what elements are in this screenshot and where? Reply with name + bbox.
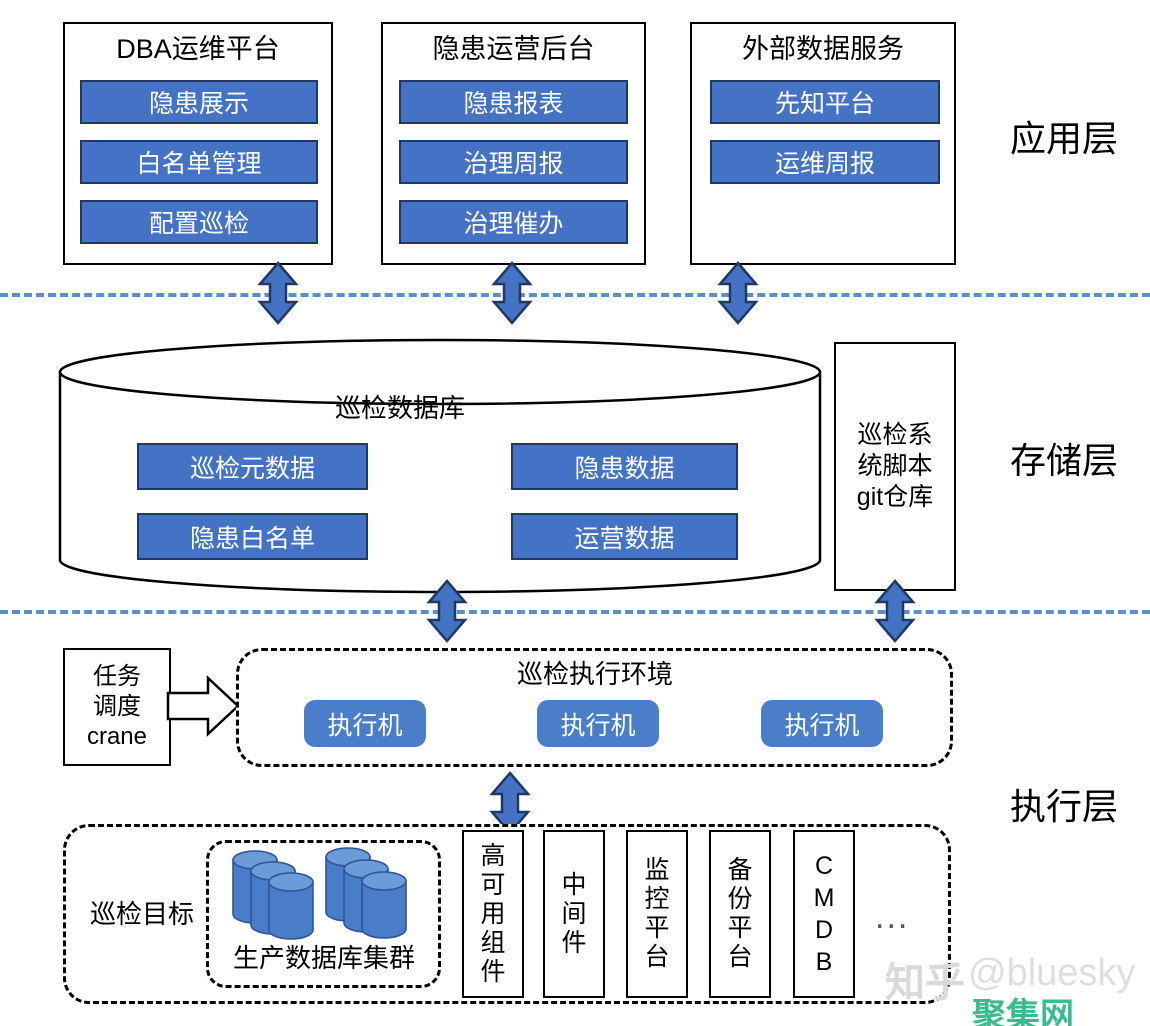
target-box-monitoring-platform[interactable]: 监控平台 xyxy=(626,830,688,998)
production-db-cluster-label: 生产数据库集群 xyxy=(216,942,432,974)
app-group-external-data: 外部数据服务 先知平台 运维周报 xyxy=(690,22,956,265)
target-box-backup-platform[interactable]: 备份平台 xyxy=(709,830,771,998)
arrow-app-external-to-storage xyxy=(718,262,758,324)
app-group-external-data-title: 外部数据服务 xyxy=(692,32,954,66)
database-cluster-icon xyxy=(225,840,425,940)
layer-label-execution: 执行层 xyxy=(1010,786,1150,828)
task-scheduler-label: 任务调度crane xyxy=(85,662,149,752)
architecture-diagram: DBA运维平台 隐患展示 白名单管理 配置巡检 隐患运营后台 隐患报表 治理周报… xyxy=(0,0,1150,1026)
inspection-targets-title: 巡检目标 xyxy=(82,898,202,930)
storage-item-inspection-metadata[interactable]: 巡检元数据 xyxy=(137,443,368,490)
target-box-monitoring-platform-label: 监控平台 xyxy=(645,856,670,972)
storage-item-operation-data[interactable]: 运营数据 xyxy=(511,513,738,560)
target-box-ha-components[interactable]: 高可用组件 xyxy=(462,830,524,998)
target-box-ha-components-label: 高可用组件 xyxy=(481,842,506,987)
app-item-governance-weekly[interactable]: 治理周报 xyxy=(399,140,628,184)
target-box-backup-platform-label: 备份平台 xyxy=(728,856,753,972)
app-item-whitelist-mgmt[interactable]: 白名单管理 xyxy=(80,140,318,184)
watermark-brand: 聚集网 xyxy=(972,988,1074,1026)
task-scheduler-box: 任务调度crane xyxy=(63,648,171,766)
app-group-hidden-ops: 隐患运营后台 隐患报表 治理周报 治理催办 xyxy=(381,22,646,265)
arrow-app-hidden-ops-to-storage xyxy=(492,262,532,324)
target-more-ellipsis: ... xyxy=(875,898,935,937)
storage-item-hidden-data[interactable]: 隐患数据 xyxy=(511,443,738,490)
target-box-middleware[interactable]: 中间件 xyxy=(543,830,605,998)
arrow-app-dba-to-storage xyxy=(258,262,298,324)
git-repo-box: 巡检系统脚本git仓库 xyxy=(834,342,956,591)
watermark-zhihu-logo: 知乎 xyxy=(885,950,965,1008)
git-repo-label: 巡检系统脚本git仓库 xyxy=(850,420,940,513)
separator-storage-execution xyxy=(0,610,1150,614)
executor-node-1[interactable]: 执行机 xyxy=(304,700,426,747)
app-item-ops-weekly[interactable]: 运维周报 xyxy=(710,140,940,184)
target-box-middleware-label: 中间件 xyxy=(562,871,587,958)
storage-item-hidden-whitelist[interactable]: 隐患白名单 xyxy=(137,513,368,560)
app-item-hidden-report[interactable]: 隐患报表 xyxy=(399,80,628,124)
app-item-config-inspection[interactable]: 配置巡检 xyxy=(80,200,318,244)
executor-node-3[interactable]: 执行机 xyxy=(761,700,883,747)
app-group-dba-title: DBA运维平台 xyxy=(65,32,331,66)
app-item-prophet-platform[interactable]: 先知平台 xyxy=(710,80,940,124)
app-group-hidden-ops-title: 隐患运营后台 xyxy=(383,32,644,66)
target-box-cmdb-label: CMDB xyxy=(812,850,837,978)
inspection-database-title: 巡检数据库 xyxy=(280,392,520,424)
executor-node-2[interactable]: 执行机 xyxy=(537,700,659,747)
app-group-dba: DBA运维平台 隐患展示 白名单管理 配置巡检 xyxy=(63,22,333,265)
arrow-storage-to-execution xyxy=(427,580,467,642)
layer-label-storage: 存储层 xyxy=(1010,440,1150,482)
execution-environment-title: 巡检执行环境 xyxy=(480,658,710,690)
arrow-git-repo-to-execution xyxy=(875,580,915,642)
target-box-cmdb[interactable]: CMDB xyxy=(793,830,855,998)
separator-app-storage xyxy=(0,293,1150,297)
scheduler-to-environment-arrow xyxy=(168,673,240,739)
app-item-hidden-display[interactable]: 隐患展示 xyxy=(80,80,318,124)
layer-label-application: 应用层 xyxy=(1010,118,1150,160)
app-item-governance-urge[interactable]: 治理催办 xyxy=(399,200,628,244)
